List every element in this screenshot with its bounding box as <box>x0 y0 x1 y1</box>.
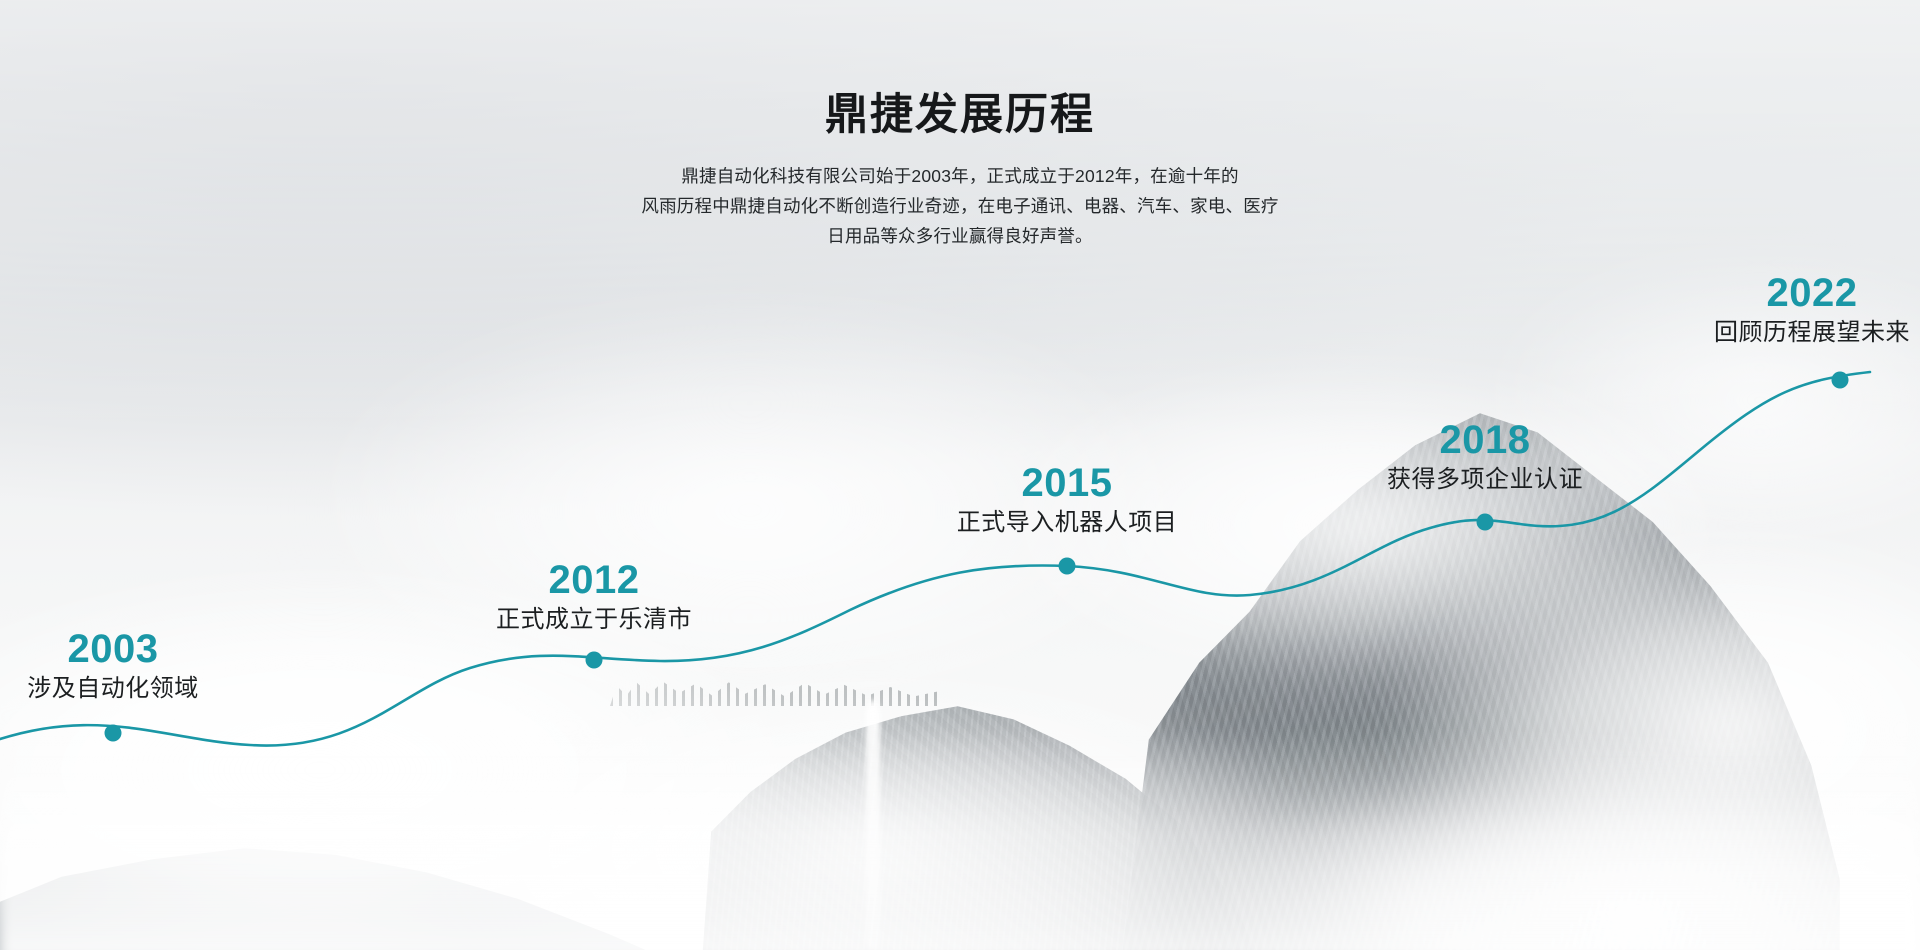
milestone-year-label: 2022 <box>1714 272 1910 314</box>
milestone-description: 回顾历程展望未来 <box>1714 318 1910 348</box>
milestone-description: 涉及自动化领域 <box>27 674 199 704</box>
subtitle-line-1: 鼎捷自动化科技有限公司始于2003年，正式成立于2012年，在逾十年的 <box>580 161 1340 191</box>
timeline-infographic: 鼎捷发展历程 鼎捷自动化科技有限公司始于2003年，正式成立于2012年，在逾十… <box>0 0 1920 950</box>
timeline-node-2018[interactable] <box>1477 514 1494 531</box>
page-title: 鼎捷发展历程 <box>0 92 1920 139</box>
milestone-year-label: 2018 <box>1387 419 1583 461</box>
milestone-2012[interactable]: 2012正式成立于乐清市 <box>496 559 692 635</box>
milestone-year-label: 2012 <box>496 559 692 601</box>
milestone-2015[interactable]: 2015正式导入机器人项目 <box>957 462 1178 538</box>
timeline-node-2015[interactable] <box>1059 558 1076 575</box>
milestone-description: 正式成立于乐清市 <box>496 605 692 635</box>
subtitle-line-3: 日用品等众多行业赢得良好声誉。 <box>580 221 1340 251</box>
milestone-description: 正式导入机器人项目 <box>957 508 1178 538</box>
milestone-2003[interactable]: 2003涉及自动化领域 <box>27 628 199 704</box>
milestone-year-label: 2003 <box>27 628 199 670</box>
page-subtitle: 鼎捷自动化科技有限公司始于2003年，正式成立于2012年，在逾十年的 风雨历程… <box>580 161 1340 251</box>
timeline-node-2022[interactable] <box>1832 372 1849 389</box>
header: 鼎捷发展历程 鼎捷自动化科技有限公司始于2003年，正式成立于2012年，在逾十… <box>0 92 1920 252</box>
timeline-node-group <box>105 372 1849 742</box>
milestone-2022[interactable]: 2022回顾历程展望未来 <box>1714 272 1910 348</box>
milestone-description: 获得多项企业认证 <box>1387 465 1583 495</box>
milestone-2018[interactable]: 2018获得多项企业认证 <box>1387 419 1583 495</box>
subtitle-line-2: 风雨历程中鼎捷自动化不断创造行业奇迹，在电子通讯、电器、汽车、家电、医疗 <box>580 191 1340 221</box>
timeline-curve <box>0 372 1870 750</box>
timeline-node-2012[interactable] <box>586 652 603 669</box>
timeline-node-2003[interactable] <box>105 725 122 742</box>
milestone-year-label: 2015 <box>957 462 1178 504</box>
